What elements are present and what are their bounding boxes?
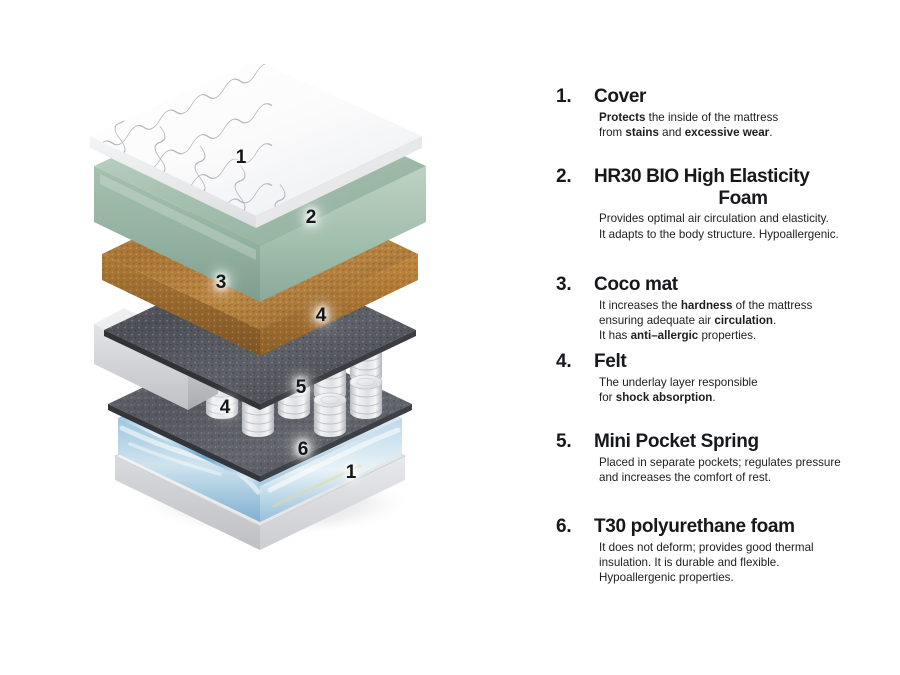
spec-body: CoverProtects the inside of the mattress… <box>594 86 892 140</box>
spec-description-line: The underlay layer responsible <box>599 375 892 390</box>
spec-title: T30 polyurethane foam <box>594 516 892 538</box>
spec-index: 6. <box>556 516 594 537</box>
spec-description: Placed in separate pockets; regulates pr… <box>599 455 892 486</box>
spec-title-line2: Foam <box>594 188 892 210</box>
spec-description-line: It adapts to the body structure. Hypoall… <box>599 227 892 242</box>
spec-item: 1.CoverProtects the inside of the mattre… <box>556 86 892 140</box>
callout-felt-lower: 4 <box>212 398 238 417</box>
spec-description: It does not deform; provides good therma… <box>599 540 892 586</box>
spec-description-line: It does not deform; provides good therma… <box>599 540 892 555</box>
spec-title-line1: HR30 BIO High Elasticity <box>594 166 892 188</box>
spec-title: HR30 BIO High ElasticityFoam <box>594 166 892 209</box>
spec-description-line: Protects the inside of the mattress <box>599 110 892 125</box>
spec-description: The underlay layer responsiblefor shock … <box>599 375 892 406</box>
spec-item: 6.T30 polyurethane foamIt does not defor… <box>556 516 892 586</box>
spec-title: Mini Pocket Spring <box>594 431 892 453</box>
spec-item: 2.HR30 BIO High ElasticityFoamProvides o… <box>556 166 892 242</box>
spec-description-line: Hypoallergenic properties. <box>599 570 892 585</box>
spec-description: It increases the hardness of the mattres… <box>599 298 892 344</box>
spec-description-line: Placed in separate pockets; regulates pr… <box>599 455 892 470</box>
layer-cover-top <box>60 88 480 538</box>
spec-index: 5. <box>556 431 594 452</box>
spec-body: Mini Pocket SpringPlaced in separate poc… <box>594 431 892 485</box>
spec-description-line: insulation. It is durable and flexible. <box>599 555 892 570</box>
callout-hr30-foam: 2 <box>298 208 324 227</box>
spec-index: 1. <box>556 86 594 107</box>
spec-description-line: It has anti–allergic properties. <box>599 328 892 343</box>
callout-coco-mat: 3 <box>208 273 234 292</box>
spec-item: 5.Mini Pocket SpringPlaced in separate p… <box>556 431 892 485</box>
spec-body: HR30 BIO High ElasticityFoamProvides opt… <box>594 166 892 242</box>
callout-cover-top: 1 <box>228 148 254 167</box>
spec-item: 4.FeltThe underlay layer responsiblefor … <box>556 351 892 405</box>
spec-description-line: ensuring adequate air circulation. <box>599 313 892 328</box>
spec-description-line: for shock absorption. <box>599 390 892 405</box>
spec-description-line: It increases the hardness of the mattres… <box>599 298 892 313</box>
spec-body: FeltThe underlay layer responsiblefor sh… <box>594 351 892 405</box>
mattress-layer-illustration: 12345461 <box>60 88 480 538</box>
spec-item: 3.Coco matIt increases the hardness of t… <box>556 274 892 344</box>
callout-t30-foam: 6 <box>290 440 316 459</box>
spec-index: 2. <box>556 166 594 187</box>
spec-title: Coco mat <box>594 274 892 296</box>
spec-description-line: and increases the comfort of rest. <box>599 470 892 485</box>
spec-description-line: Provides optimal air circulation and ela… <box>599 211 892 226</box>
spec-description: Provides optimal air circulation and ela… <box>599 211 892 242</box>
callout-pocket-spring: 5 <box>288 378 314 397</box>
callout-cover-base: 1 <box>338 463 364 482</box>
spec-title: Felt <box>594 351 892 373</box>
spec-description-line: from stains and excessive wear. <box>599 125 892 140</box>
spec-index: 4. <box>556 351 594 372</box>
spec-index: 3. <box>556 274 594 295</box>
callout-felt-upper: 4 <box>308 306 334 325</box>
spec-body: Coco matIt increases the hardness of the… <box>594 274 892 344</box>
spec-title: Cover <box>594 86 892 108</box>
spec-body: T30 polyurethane foamIt does not deform;… <box>594 516 892 586</box>
spec-description: Protects the inside of the mattressfrom … <box>599 110 892 141</box>
